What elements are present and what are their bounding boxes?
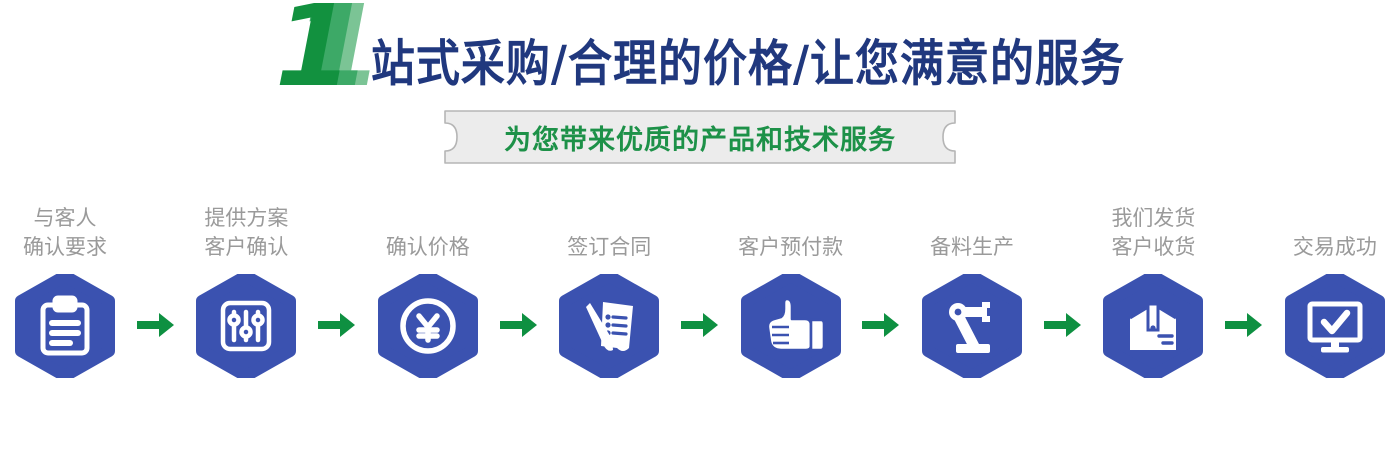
arrow-right-icon [318,310,356,340]
step-6-label-line1: 备料生产 [930,233,1014,262]
logo-number-one: 1 1 1 [275,8,365,103]
step-2-label-line2: 客户确认 [204,233,288,262]
process-step-2[interactable]: 提供方案 客户确认 [187,190,305,378]
subtitle-ribbon-banner: 为您带来优质的产品和技术服务 [438,110,962,164]
step-2-label: 提供方案 客户确认 [204,190,288,262]
subtitle-text: 为您带来优质的产品和技术服务 [438,110,962,164]
step-5-hexagon[interactable] [739,274,843,378]
step-8-label: 交易成功 [1293,190,1377,262]
title-row: 1 1 1 站式采购/合理的价格/让您满意的服务 [0,8,1400,103]
process-step-6[interactable]: 备料生产 [913,190,1031,378]
flow-arrow-1 [135,310,177,340]
step-7-label-line2: 客户收货 [1111,233,1195,262]
step-1-hexagon[interactable] [13,274,117,378]
arrow-right-icon [500,310,538,340]
process-step-3[interactable]: 确认价格 [369,190,487,378]
header-block: 1 1 1 站式采购/合理的价格/让您满意的服务 为您带来优质的产品和技术服务 [0,0,1400,185]
step-1-label: 与客人 确认要求 [23,190,107,262]
step-8-hexagon[interactable] [1283,274,1387,378]
page-title: 站式采购/合理的价格/让您满意的服务 [371,36,1125,103]
logo-digit-main: 1 [275,0,349,95]
process-step-8[interactable]: 交易成功 [1276,190,1394,378]
step-3-hexagon[interactable] [376,274,480,378]
step-1-label-line1: 与客人 [34,204,97,233]
flow-arrow-3 [498,310,540,340]
step-7-hexagon[interactable] [1101,274,1205,378]
step-8-label-line1: 交易成功 [1293,233,1377,262]
process-step-7[interactable]: 我们发货 客户收货 [1094,190,1212,378]
flow-arrow-5 [860,310,902,340]
step-4-label-line1: 签订合同 [567,233,651,262]
step-2-label-line1: 提供方案 [204,204,288,233]
step-3-label: 确认价格 [386,190,470,262]
step-6-label: 备料生产 [930,190,1014,262]
flow-arrow-6 [1042,310,1084,340]
process-step-4[interactable]: 签订合同 [550,190,668,378]
flow-arrow-4 [679,310,721,340]
step-2-hexagon[interactable] [194,274,298,378]
arrow-right-icon [1044,310,1082,340]
step-7-label-line1: 我们发货 [1111,204,1195,233]
process-flow: 与客人 确认要求 提供方案 [0,190,1400,405]
step-6-hexagon[interactable] [920,274,1024,378]
flow-arrow-2 [316,310,358,340]
flow-arrow-7 [1223,310,1265,340]
step-4-hexagon[interactable] [557,274,661,378]
arrow-right-icon [1225,310,1263,340]
arrow-right-icon [681,310,719,340]
arrow-right-icon [137,310,175,340]
process-step-5[interactable]: 客户预付款 [732,190,850,378]
step-5-label: 客户预付款 [738,190,843,262]
step-5-label-line1: 客户预付款 [738,233,843,262]
process-step-1[interactable]: 与客人 确认要求 [6,190,124,378]
step-3-label-line1: 确认价格 [386,233,470,262]
arrow-right-icon [862,310,900,340]
step-7-label: 我们发货 客户收货 [1111,190,1195,262]
step-4-label: 签订合同 [567,190,651,262]
step-1-label-line2: 确认要求 [23,233,107,262]
